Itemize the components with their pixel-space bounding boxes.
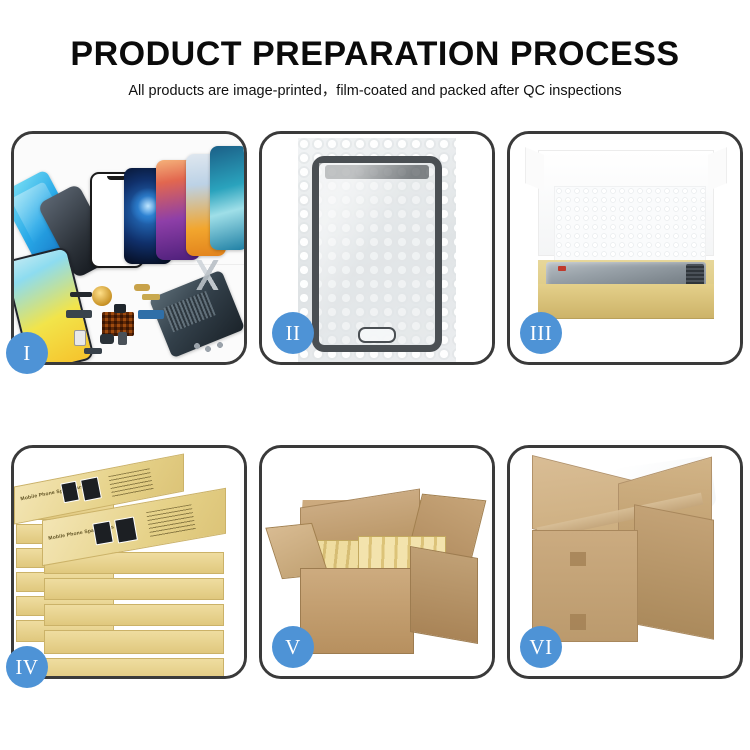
box-label-thumbnail	[80, 476, 102, 501]
copper-coil-part	[92, 286, 112, 306]
spare-part	[118, 332, 127, 345]
red-label-sticker	[558, 266, 566, 271]
step-badge-2: II	[272, 312, 314, 354]
spare-part	[134, 284, 150, 291]
step-panel-4: Mobile Phone Spare Parts Mobile Phone Sp…	[11, 445, 247, 679]
box-label-thumbnail	[114, 516, 138, 543]
foam-padding	[554, 186, 706, 264]
step-badge-4: IV	[6, 646, 48, 688]
carton-side-wall	[634, 504, 714, 640]
step-badge-1: I	[6, 332, 48, 374]
wrapped-phone-screen	[312, 156, 442, 352]
step-badge-6: VI	[520, 626, 562, 668]
teal-gradient-phone	[210, 146, 244, 250]
carton-seam-patch	[570, 552, 586, 566]
box-label-thumbnail	[92, 521, 114, 546]
step-panel-5: V	[259, 445, 495, 679]
step-panel-3: III	[507, 131, 743, 365]
stacked-box	[44, 604, 224, 626]
spare-part	[114, 304, 126, 313]
carton-seam-patch	[570, 614, 586, 630]
spare-part	[142, 294, 160, 300]
page-title: PRODUCT PREPARATION PROCESS	[0, 34, 750, 74]
spare-part	[84, 348, 102, 354]
step-1-photo	[14, 134, 244, 362]
spare-part	[74, 330, 86, 346]
box-stack: Mobile Phone Spare Parts Mobile Phone Sp…	[14, 448, 244, 676]
inner-box-front-wall	[538, 284, 714, 319]
carton-front-wall	[300, 568, 414, 654]
stacked-box	[44, 630, 224, 654]
step-badge-3: III	[520, 312, 562, 354]
process-steps-grid: I II	[11, 131, 743, 679]
stacked-box	[44, 658, 224, 676]
step-panel-6: VI	[507, 445, 743, 679]
spare-part	[138, 310, 164, 319]
film-sheen	[319, 163, 435, 345]
spare-part	[100, 334, 114, 344]
tweezers-tool	[186, 260, 234, 290]
spare-part	[70, 292, 92, 297]
step-panel-1: I	[11, 131, 247, 365]
screws-group	[192, 340, 228, 354]
page-subtitle: All products are image-printed，film-coat…	[0, 82, 750, 100]
step-panel-2: II	[259, 131, 495, 365]
product-preparation-infographic: PRODUCT PREPARATION PROCESS All products…	[0, 0, 750, 750]
step-badge-5: V	[272, 626, 314, 668]
stacked-box	[44, 578, 224, 600]
spare-part	[66, 310, 92, 318]
step-4-photo: Mobile Phone Spare Parts Mobile Phone Sp…	[14, 448, 244, 676]
carton-side-wall	[410, 546, 478, 644]
header: PRODUCT PREPARATION PROCESS All products…	[0, 34, 750, 100]
